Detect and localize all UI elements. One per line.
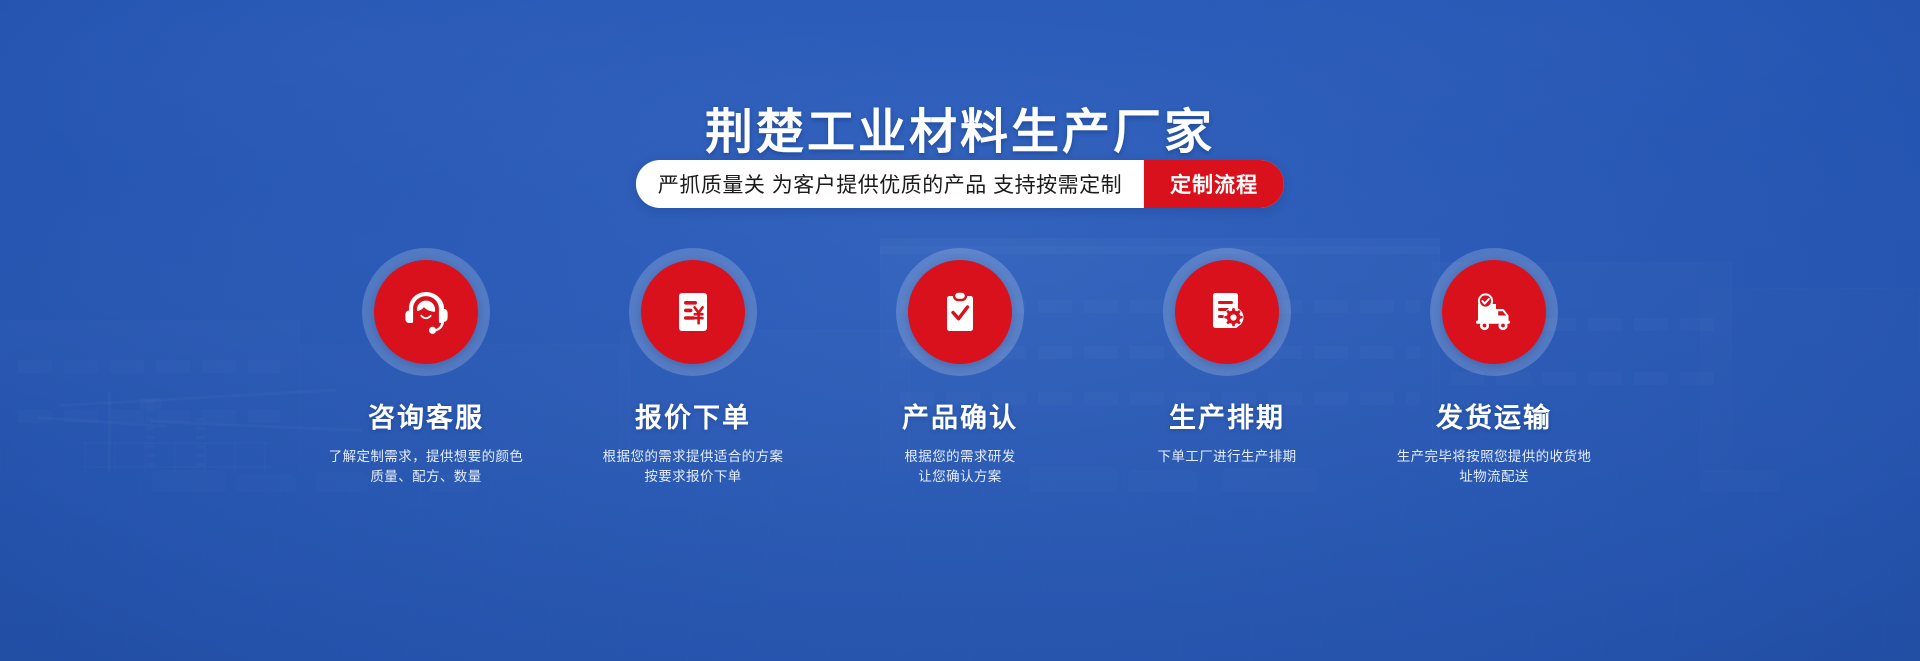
step-description-line-1: 根据您的需求研发 [832,447,1088,467]
step-description-line-2: 质量、配方、数量 [298,467,554,487]
step-description: 下单工厂进行生产排期 [1099,447,1355,467]
tagline-pill: 严抓质量关 为客户提供优质的产品 支持按需定制 定制流程 [636,160,1284,208]
step-description-line-2: 让您确认方案 [832,467,1088,487]
step-icon-ring [896,248,1024,376]
step-icon-circle [1442,260,1546,364]
step-description-line-2: 按要求报价下单 [565,467,821,487]
step-item-consult[interactable]: 咨询客服 了解定制需求，提供想要的颜色 质量、配方、数量 [298,248,554,487]
step-description: 根据您的需求研发 让您确认方案 [832,447,1088,487]
step-title: 发货运输 [1366,396,1622,435]
step-title: 生产排期 [1099,396,1355,435]
step-item-shipping[interactable]: 发货运输 生产完毕将按照您提供的收货地 址物流配送 [1366,248,1622,487]
step-description-line-1: 生产完毕将按照您提供的收货地 [1366,447,1622,467]
step-icon-circle [1175,260,1279,364]
promo-banner: 荆楚工业材料生产厂家 严抓质量关 为客户提供优质的产品 支持按需定制 定制流程 [0,0,1920,661]
step-description-line-1: 了解定制需求，提供想要的颜色 [298,447,554,467]
invoice-yuan-icon [666,285,720,339]
step-icon-ring [362,248,490,376]
step-icon-circle [374,260,478,364]
step-description-line-1: 根据您的需求提供适合的方案 [565,447,821,467]
step-title: 咨询客服 [298,396,554,435]
step-description: 根据您的需求提供适合的方案 按要求报价下单 [565,447,821,487]
delivery-truck-check-icon [1466,284,1522,340]
headset-support-icon [398,284,454,340]
tagline-text: 严抓质量关 为客户提供优质的产品 支持按需定制 [658,169,1144,199]
step-title: 报价下单 [565,396,821,435]
step-item-confirm[interactable]: 产品确认 根据您的需求研发 让您确认方案 [832,248,1088,487]
step-title: 产品确认 [832,396,1088,435]
step-description-line-2: 址物流配送 [1366,467,1622,487]
clipboard-check-icon [933,285,987,339]
banner-content: 荆楚工业材料生产厂家 严抓质量关 为客户提供优质的产品 支持按需定制 定制流程 [0,0,1920,661]
process-steps: 咨询客服 了解定制需求，提供想要的颜色 质量、配方、数量 [298,248,1622,487]
step-icon-ring [1430,248,1558,376]
step-item-schedule[interactable]: 生产排期 下单工厂进行生产排期 [1099,248,1355,467]
step-description: 了解定制需求，提供想要的颜色 质量、配方、数量 [298,447,554,487]
custom-process-button[interactable]: 定制流程 [1144,160,1284,208]
step-description-line-1: 下单工厂进行生产排期 [1099,447,1355,467]
step-icon-ring [629,248,757,376]
step-icon-circle [641,260,745,364]
document-gear-icon [1200,285,1254,339]
step-icon-circle [908,260,1012,364]
banner-headline: 荆楚工业材料生产厂家 [0,92,1920,162]
step-description: 生产完毕将按照您提供的收货地 址物流配送 [1366,447,1622,487]
step-item-quote[interactable]: 报价下单 根据您的需求提供适合的方案 按要求报价下单 [565,248,821,487]
step-icon-ring [1163,248,1291,376]
